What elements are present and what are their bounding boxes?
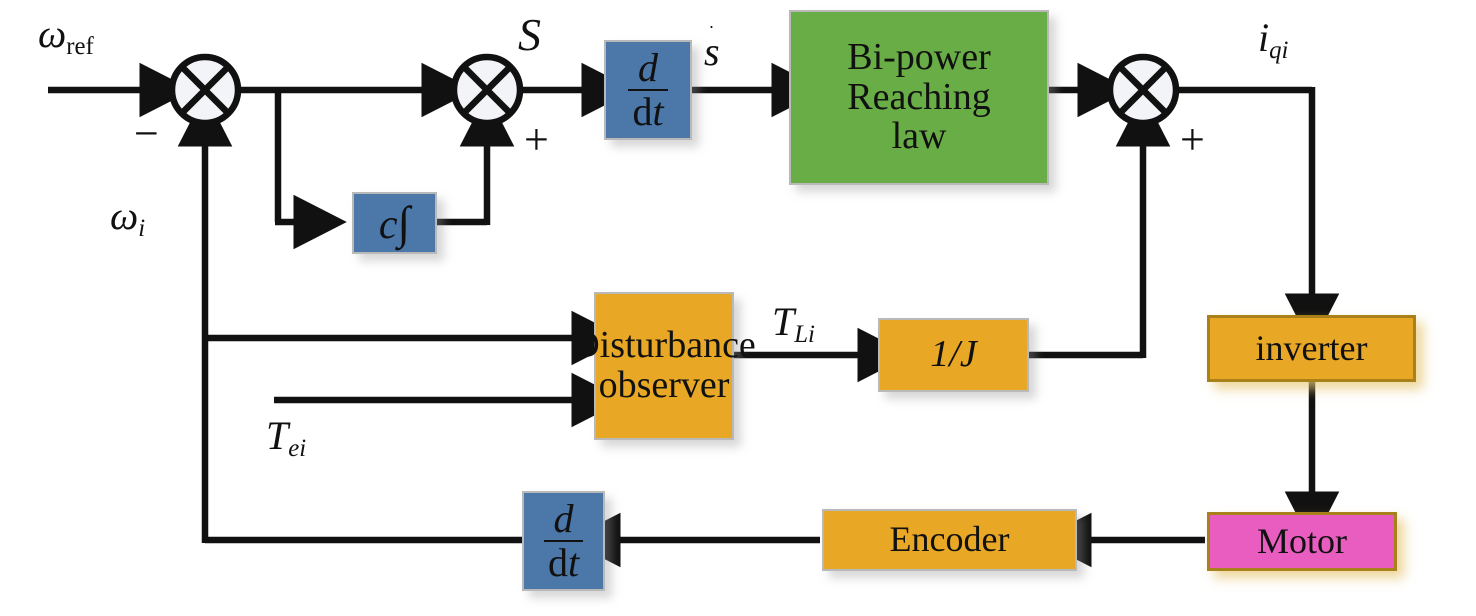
block-encoder[interactable]: Encoder bbox=[822, 509, 1077, 571]
block-diagram-canvas: c∫ d dt Bi-power Reaching law Disturbanc… bbox=[0, 0, 1476, 616]
inverter-label: inverter bbox=[1256, 330, 1368, 368]
label-T-Li: TLi bbox=[772, 298, 815, 349]
label-sum1-negative-sign: − bbox=[134, 112, 159, 156]
block-c-integral[interactable]: c∫ bbox=[352, 192, 437, 254]
label-sum2-positive-sign: + bbox=[524, 118, 549, 162]
summing-junction-1 bbox=[172, 57, 238, 123]
inertia-label: 1/J bbox=[930, 335, 976, 375]
summing-junction-2 bbox=[454, 57, 520, 123]
reaching-law-label: Bi-power Reaching law bbox=[847, 38, 991, 158]
encoder-label: Encoder bbox=[890, 521, 1010, 559]
block-motor[interactable]: Motor bbox=[1207, 512, 1397, 571]
summing-junction-3 bbox=[1110, 57, 1176, 123]
block-inertia[interactable]: 1/J bbox=[878, 318, 1029, 392]
derivative-top-fraction: d dt bbox=[628, 48, 667, 132]
c-integral-label: c∫ bbox=[379, 199, 410, 247]
label-sum3-positive-sign: + bbox=[1180, 118, 1205, 162]
motor-label: Motor bbox=[1257, 523, 1347, 561]
block-derivative-bottom[interactable]: d dt bbox=[522, 491, 605, 591]
label-i-qi: iqi bbox=[1258, 14, 1288, 65]
derivative-bottom-fraction: d dt bbox=[544, 499, 583, 583]
label-omega-ref: ωref bbox=[38, 10, 94, 61]
block-inverter[interactable]: inverter bbox=[1207, 315, 1416, 382]
block-disturbance-observer[interactable]: Disturbance observer bbox=[594, 292, 734, 440]
disturbance-observer-label: Disturbance observer bbox=[572, 326, 756, 406]
label-s-dot: ˙s bbox=[704, 28, 720, 75]
label-T-ei: Tei bbox=[266, 412, 306, 463]
label-sliding-surface: S bbox=[518, 8, 541, 61]
block-derivative-top[interactable]: d dt bbox=[604, 40, 692, 140]
block-bi-power-reaching-law[interactable]: Bi-power Reaching law bbox=[789, 10, 1049, 185]
label-omega-i: ωi bbox=[110, 192, 145, 243]
